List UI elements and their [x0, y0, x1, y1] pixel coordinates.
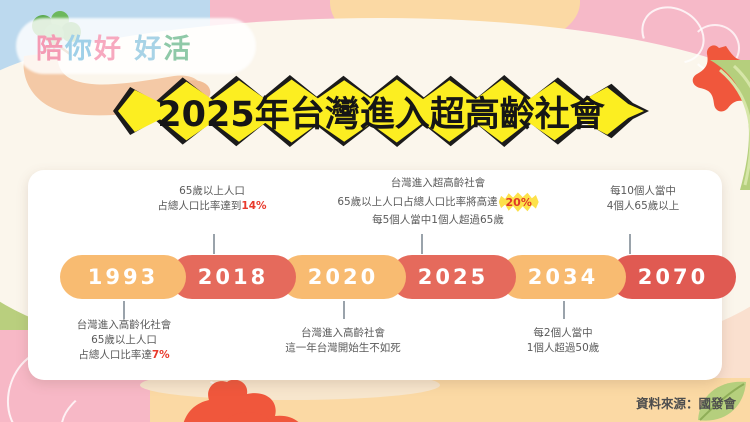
note-line: 這一年台灣開始生不如死 [256, 341, 430, 356]
connector-2070-up [629, 234, 631, 254]
timeline-year-label: 2025 [418, 265, 488, 289]
note-line: 4個人65歲以上 [568, 199, 718, 214]
timeline-year-label: 2070 [638, 265, 708, 289]
note-above-2018: 65歲以上人口 占總人口比率達到14% [112, 184, 312, 214]
connector-2025-up [421, 234, 423, 254]
note-below-2020: 台灣進入高齡社會 這一年台灣開始生不如死 [256, 326, 430, 356]
note-below-2034: 每2個人當中 1個人超過50歲 [486, 326, 640, 356]
connector-2020-down [343, 301, 345, 319]
note-line: 每5個人當中1個人超過65歲 [288, 213, 588, 228]
brand-logo: 陪你好 好活 [22, 22, 252, 70]
timeline-pill-2034[interactable]: 2034 [500, 255, 626, 299]
timeline-pill-1993[interactable]: 1993 [60, 255, 186, 299]
note-line: 台灣進入超高齡社會 [288, 176, 588, 191]
timeline-year-label: 2020 [308, 265, 378, 289]
logo-char-4: 好 [123, 34, 163, 65]
connector-2018-up [213, 234, 215, 254]
note-above-2070: 每10個人當中 4個人65歲以上 [568, 184, 718, 214]
timeline-card: 65歲以上人口 占總人口比率達到14% 台灣進入超高齡社會 65歲以上人口占總人… [28, 170, 722, 380]
note-line: 占總人口比率達到14% [112, 199, 312, 214]
logo-text: 陪你好 好活 [22, 27, 192, 66]
timeline-pill-2020[interactable]: 2020 [280, 255, 406, 299]
note-line: 65歲以上人口 [33, 333, 215, 348]
timeline-year-label: 2034 [528, 265, 598, 289]
page-title: 2025年台灣進入超高齡社會 [118, 76, 644, 146]
note-line: 台灣進入高齡社會 [256, 326, 430, 341]
timeline-year-label: 2018 [198, 265, 268, 289]
timeline-track: 1993 2018 2020 2025 2034 2070 [60, 255, 690, 299]
logo-char-1: 陪 [36, 34, 65, 65]
timeline-pill-2025[interactable]: 2025 [390, 255, 516, 299]
note-line: 65歲以上人口占總人口比率將高達 20% [288, 191, 588, 213]
highlight-value: 14% [241, 200, 266, 212]
percent-badge: 20% [499, 191, 539, 213]
connector-1993-down [123, 301, 125, 319]
logo-char-3: 好 [94, 34, 123, 65]
highlight-value: 7% [152, 349, 170, 361]
coral-icon [175, 378, 315, 422]
connector-2034-down [563, 301, 565, 319]
infographic-canvas: 陪你好 好活 2025年台灣進入超高齡社會 65歲以上人口 占總人口比率達到14… [0, 0, 750, 422]
logo-char-2: 你 [65, 34, 94, 65]
note-line: 每2個人當中 [486, 326, 640, 341]
note-line: 占總人口比率達7% [33, 348, 215, 363]
timeline-year-label: 1993 [88, 265, 158, 289]
badge-value: 20% [499, 191, 539, 213]
title-banner: 2025年台灣進入超高齡社會 [118, 76, 644, 146]
source-credit: 資料來源：國發會 [636, 393, 736, 412]
note-line: 1個人超過50歲 [486, 341, 640, 356]
timeline-pill-2018[interactable]: 2018 [170, 255, 296, 299]
note-line: 65歲以上人口 [112, 184, 312, 199]
note-line: 每10個人當中 [568, 184, 718, 199]
note-below-1993: 台灣進入高齡化社會 65歲以上人口 占總人口比率達7% [33, 318, 215, 363]
note-above-2025: 台灣進入超高齡社會 65歲以上人口占總人口比率將高達 20% 每5個人當中1個人… [288, 176, 588, 228]
timeline-pill-2070[interactable]: 2070 [610, 255, 736, 299]
logo-char-5: 活 [163, 34, 192, 65]
note-line: 台灣進入高齡化社會 [33, 318, 215, 333]
